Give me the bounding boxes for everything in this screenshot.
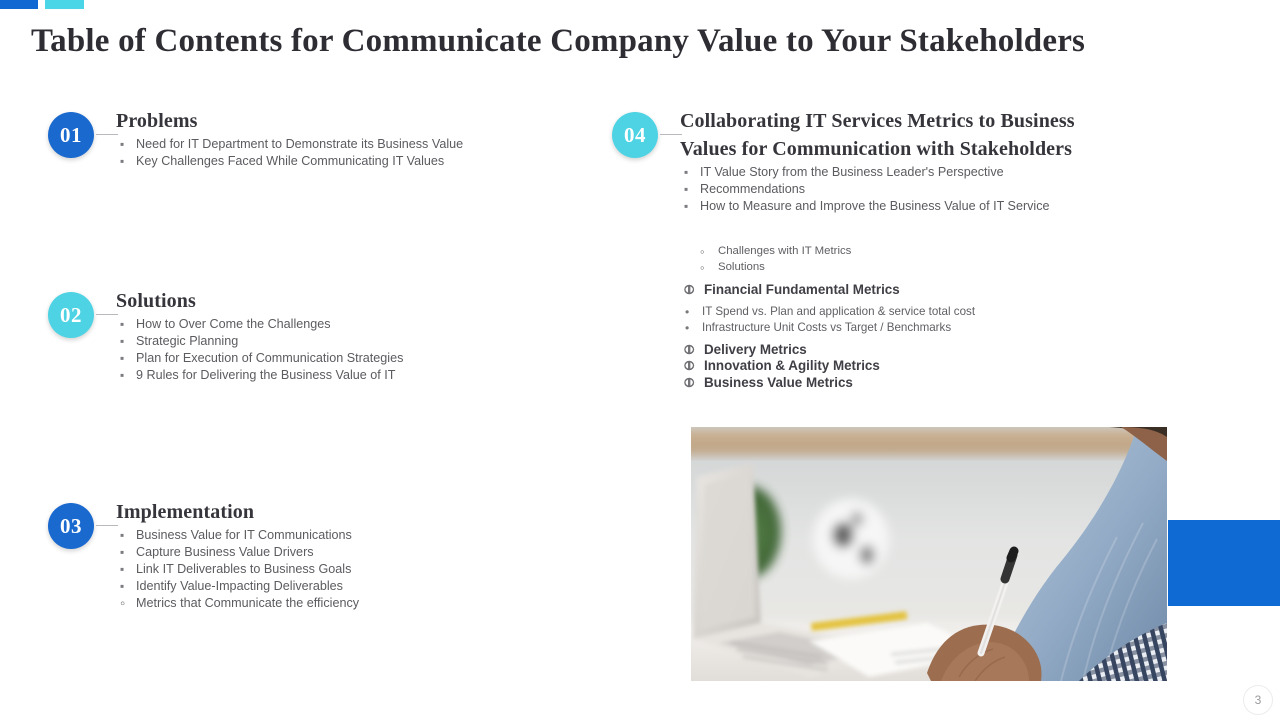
list-item: IT Spend vs. Plan and application & serv… <box>680 304 975 320</box>
list-item-label: IT Spend vs. Plan and application & serv… <box>702 305 975 318</box>
desk-photo <box>691 427 1167 681</box>
section-04-connector <box>660 134 682 135</box>
list-item: Need for IT Department to Demonstrate it… <box>116 136 463 153</box>
sub-list-item-label: Solutions <box>718 261 765 273</box>
section-02-heading: Solutions <box>116 288 403 314</box>
square-bullet-icon <box>120 561 124 579</box>
list-item: Recommendations <box>680 181 1105 198</box>
square-bullet-icon <box>120 367 124 385</box>
sub-list-item: Solutions <box>680 260 851 276</box>
arrow-bullet-icon <box>684 357 694 375</box>
list-item: Key Challenges Faced While Communicating… <box>116 153 463 170</box>
section-02-connector <box>96 314 118 315</box>
square-bullet-icon <box>684 181 688 199</box>
financial-fundamental-metrics-label: Financial Fundamental Metrics <box>704 282 900 297</box>
sub-list-item-label: Metrics that Communicate the efficiency <box>136 596 359 610</box>
list-item-label: 9 Rules for Delivering the Business Valu… <box>136 368 395 382</box>
square-bullet-icon <box>120 136 124 154</box>
slide-canvas: Table of Contents for Communicate Compan… <box>0 0 1280 720</box>
top-accent-bar-cyan <box>45 0 84 9</box>
list-item-label: Identify Value-Impacting Deliverables <box>136 579 343 593</box>
list-item-label: Key Challenges Faced While Communicating… <box>136 154 444 168</box>
square-bullet-icon <box>120 544 124 562</box>
innovation-agility-metrics-label: Innovation & Agility Metrics <box>704 358 880 373</box>
section-04-body: Collaborating IT Services Metrics to Bus… <box>680 108 1105 215</box>
section-03-connector <box>96 525 118 526</box>
square-bullet-icon <box>120 527 124 545</box>
list-item-label: IT Value Story from the Business Leader'… <box>700 165 1004 179</box>
desk-photo-illustration <box>691 427 1167 681</box>
section-04-badge: 04 <box>612 112 658 158</box>
list-item-label: Recommendations <box>700 182 805 196</box>
business-value-metrics-label: Business Value Metrics <box>704 375 853 390</box>
square-bullet-icon <box>120 333 124 351</box>
square-bullet-icon <box>120 350 124 368</box>
circle-bullet-icon <box>120 595 125 614</box>
list-item-label: Plan for Execution of Communication Stra… <box>136 351 403 365</box>
sub-list-item: Metrics that Communicate the efficiency <box>116 595 359 612</box>
list-item: Business Value for IT Communications <box>116 527 359 544</box>
list-item-label: How to Measure and Improve the Business … <box>700 199 1050 213</box>
innovation-agility-metrics-item: Innovation & Agility Metrics <box>684 357 880 375</box>
section-03-heading: Implementation <box>116 499 359 525</box>
section-03-badge: 03 <box>48 503 94 549</box>
square-bullet-icon <box>120 153 124 171</box>
section-01-heading: Problems <box>116 108 463 134</box>
list-item: Strategic Planning <box>116 333 403 350</box>
square-bullet-icon <box>684 164 688 182</box>
square-bullet-icon <box>684 198 688 216</box>
section-02-badge: 02 <box>48 292 94 338</box>
list-item: Plan for Execution of Communication Stra… <box>116 350 403 367</box>
section-02-bullet-list: How to Over Come the Challenges Strategi… <box>116 316 403 384</box>
list-item: IT Value Story from the Business Leader'… <box>680 164 1105 181</box>
business-value-metrics-item: Business Value Metrics <box>684 374 853 392</box>
dot-bullet-icon <box>685 304 689 320</box>
section-04-circle-sub-list: Challenges with IT Metrics Solutions <box>680 244 851 275</box>
arrow-bullet-icon <box>684 374 694 392</box>
section-01-body: Problems Need for IT Department to Demon… <box>116 108 463 170</box>
section-03-bullet-list: Business Value for IT Communications Cap… <box>116 527 359 612</box>
circle-bullet-icon <box>700 260 705 276</box>
page-number-badge: 3 <box>1243 685 1273 715</box>
list-item-label: Need for IT Department to Demonstrate it… <box>136 137 463 151</box>
list-item: Capture Business Value Drivers <box>116 544 359 561</box>
list-item-label: How to Over Come the Challenges <box>136 317 331 331</box>
list-item-label: Capture Business Value Drivers <box>136 545 314 559</box>
financial-metrics-list: IT Spend vs. Plan and application & serv… <box>680 304 975 336</box>
circle-bullet-icon <box>700 244 705 260</box>
financial-fundamental-metrics-heading: Financial Fundamental Metrics <box>684 281 900 299</box>
arrow-bullet-icon <box>684 281 694 299</box>
section-04-heading-line-2: Values for Communication with Stakeholde… <box>680 136 1105 162</box>
section-01-badge: 01 <box>48 112 94 158</box>
section-03-body: Implementation Business Value for IT Com… <box>116 499 359 612</box>
page-title: Table of Contents for Communicate Compan… <box>31 21 1251 61</box>
top-accent-bar-blue <box>0 0 38 9</box>
dot-bullet-icon <box>685 320 689 336</box>
section-01-connector <box>96 134 118 135</box>
list-item: Infrastructure Unit Costs vs Target / Be… <box>680 320 975 336</box>
square-bullet-icon <box>120 316 124 334</box>
square-bullet-icon <box>120 578 124 596</box>
list-item-label: Link IT Deliverables to Business Goals <box>136 562 351 576</box>
list-item: How to Measure and Improve the Business … <box>680 198 1105 215</box>
section-01-bullet-list: Need for IT Department to Demonstrate it… <box>116 136 463 170</box>
list-item-label: Business Value for IT Communications <box>136 528 352 542</box>
list-item: Link IT Deliverables to Business Goals <box>116 561 359 578</box>
list-item: Identify Value-Impacting Deliverables <box>116 578 359 595</box>
delivery-metrics-label: Delivery Metrics <box>704 342 807 357</box>
list-item: 9 Rules for Delivering the Business Valu… <box>116 367 403 384</box>
section-04-bullet-list: IT Value Story from the Business Leader'… <box>680 164 1105 215</box>
list-item: How to Over Come the Challenges <box>116 316 403 333</box>
sub-list-item: Challenges with IT Metrics <box>680 244 851 260</box>
accent-block-right <box>1168 520 1280 606</box>
sub-list-item-label: Challenges with IT Metrics <box>718 245 851 257</box>
list-item-label: Strategic Planning <box>136 334 238 348</box>
section-04-heading-line-1: Collaborating IT Services Metrics to Bus… <box>680 108 1105 134</box>
list-item-label: Infrastructure Unit Costs vs Target / Be… <box>702 321 951 334</box>
section-02-body: Solutions How to Over Come the Challenge… <box>116 288 403 384</box>
